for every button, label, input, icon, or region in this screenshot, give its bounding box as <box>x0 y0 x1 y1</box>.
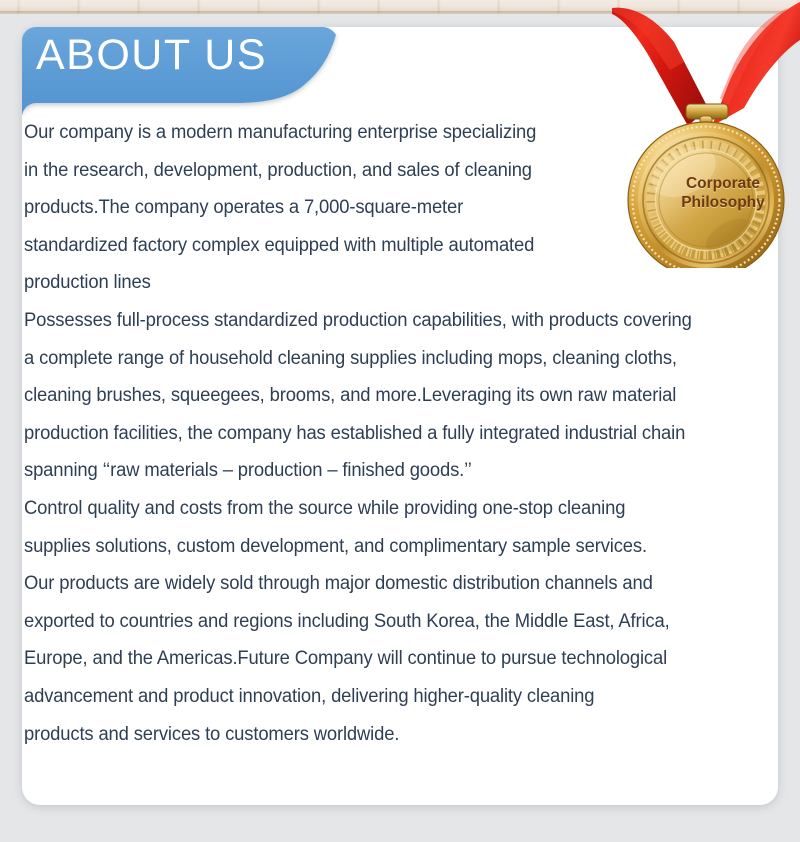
paragraph-2: Possesses full-process standardized prod… <box>24 302 776 490</box>
text-line: Control quality and costs from the sourc… <box>24 490 742 528</box>
text-line: products.The company operates a 7,000-sq… <box>24 189 742 227</box>
text-line: Europe, and the Americas.Future Company … <box>24 640 742 678</box>
text-line: standardized factory complex equipped wi… <box>24 227 742 265</box>
text-line: Possesses full-process standardized prod… <box>24 302 742 340</box>
paragraph-1: Our company is a modern manufacturing en… <box>24 114 776 302</box>
about-us-body: Our company is a modern manufacturing en… <box>24 114 776 753</box>
text-line: Our products are widely sold through maj… <box>24 565 742 603</box>
text-line: production lines <box>24 264 742 302</box>
text-line: spanning ‘‘raw materials – production – … <box>24 452 742 490</box>
text-line: advancement and product innovation, deli… <box>24 678 742 716</box>
text-line: exported to countries and regions includ… <box>24 603 742 641</box>
text-line: a complete range of household cleaning s… <box>24 340 742 378</box>
paragraph-3: Control quality and costs from the sourc… <box>24 490 776 753</box>
text-line: supplies solutions, custom development, … <box>24 528 742 566</box>
text-line: Our company is a modern manufacturing en… <box>24 114 742 152</box>
text-line: in the research, development, production… <box>24 152 742 190</box>
text-line: production facilities, the company has e… <box>24 415 742 453</box>
about-us-page: ABOUT US <box>0 0 800 842</box>
text-line: products and services to customers world… <box>24 716 742 754</box>
text-line: cleaning brushes, squeegees, brooms, and… <box>24 377 742 415</box>
page-title: ABOUT US <box>36 34 267 77</box>
